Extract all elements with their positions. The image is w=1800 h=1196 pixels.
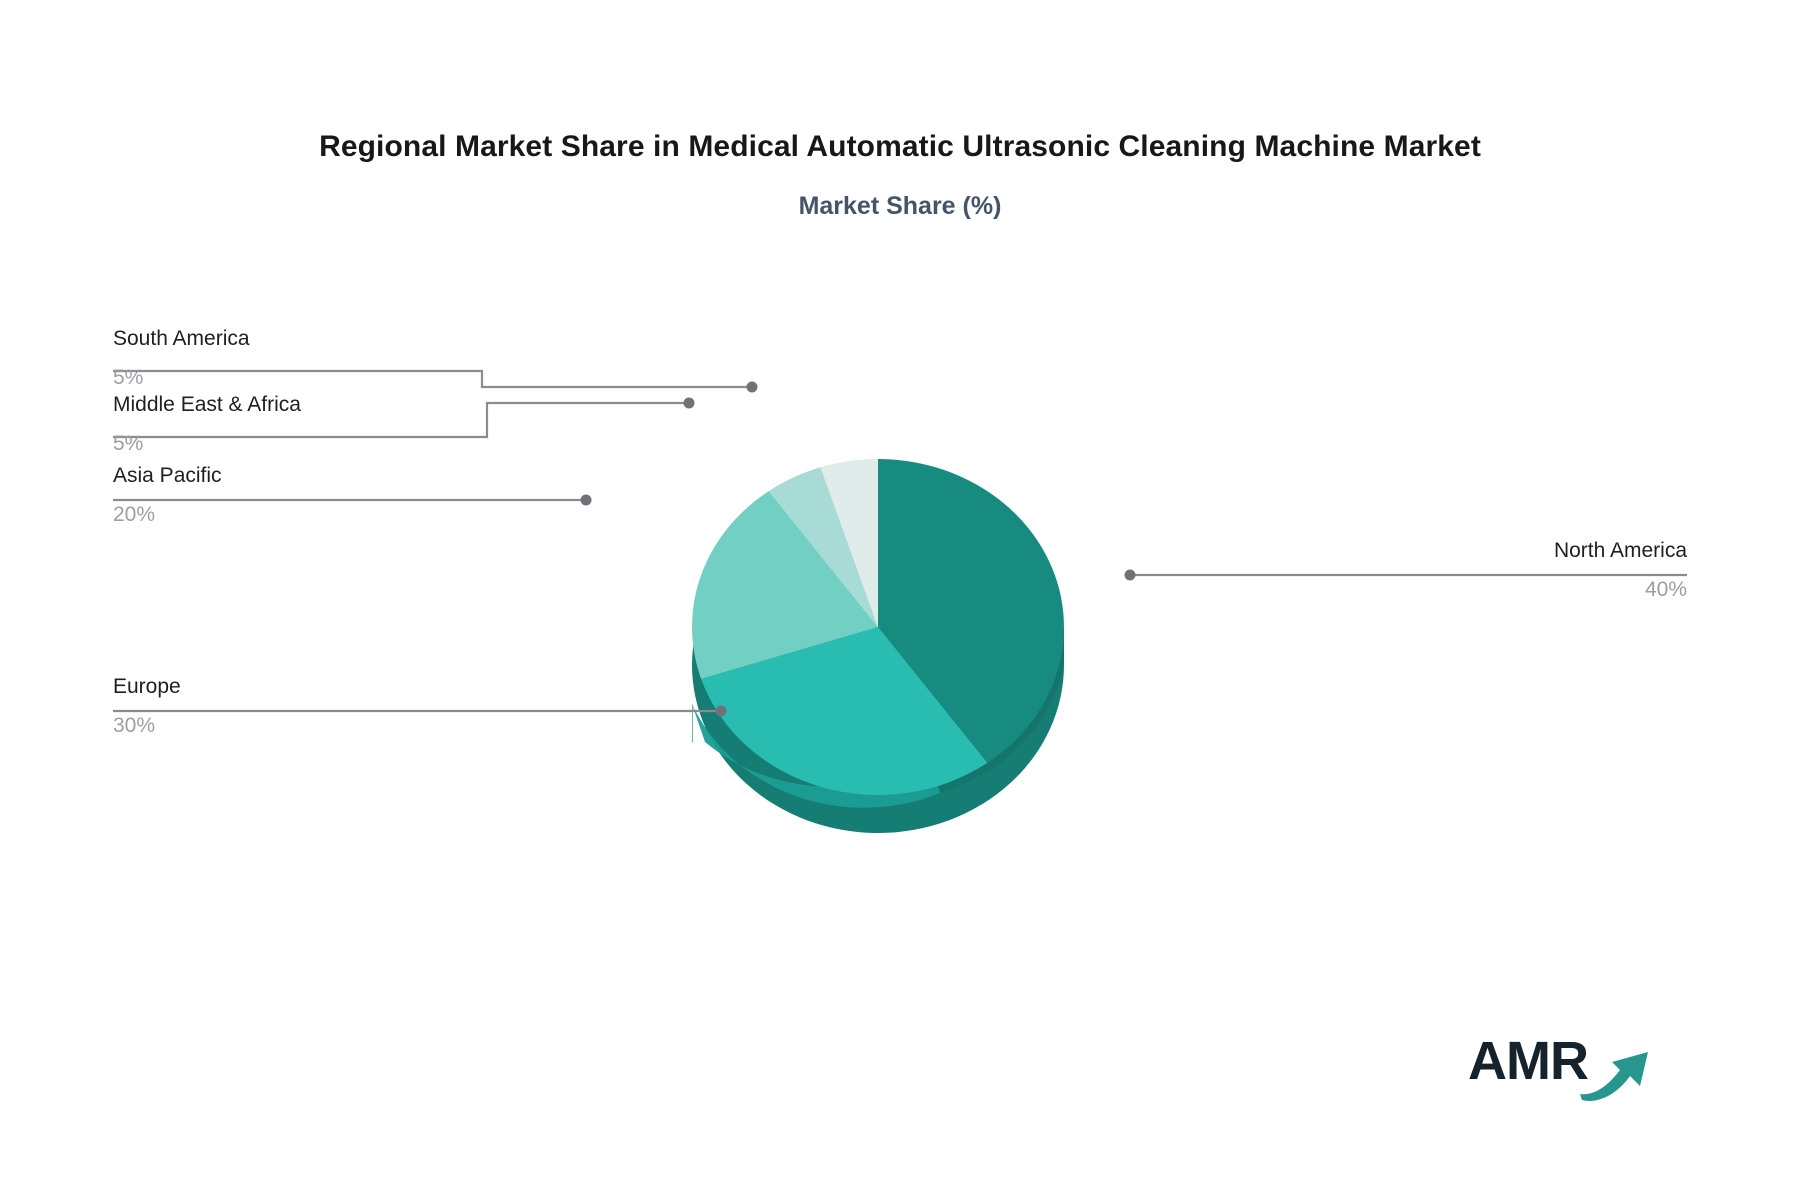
pie-chart xyxy=(0,0,1800,1196)
callout-label-middle-east-africa: Middle East & Africa xyxy=(113,394,301,424)
callout-south-america: South America 5% xyxy=(113,328,250,388)
callout-value-north-america: 40% xyxy=(1554,570,1687,600)
callout-value-europe: 30% xyxy=(113,706,181,736)
callout-middle-east-africa: Middle East & Africa 5% xyxy=(113,394,301,454)
growth-arrow-icon xyxy=(1578,1034,1658,1104)
pie-slices xyxy=(692,459,1064,795)
amr-logo-text: AMR xyxy=(1468,1030,1588,1092)
callout-label-asia-pacific: Asia Pacific xyxy=(113,465,222,495)
callout-value-asia-pacific: 20% xyxy=(113,495,222,525)
leader-dot-middle-east-africa xyxy=(684,398,695,409)
chart-page: Regional Market Share in Medical Automat… xyxy=(0,0,1800,1196)
callout-europe: Europe 30% xyxy=(113,676,181,736)
callout-label-north-america: North America xyxy=(1554,540,1687,570)
callout-label-europe: Europe xyxy=(113,676,181,706)
callout-label-south-america: South America xyxy=(113,328,250,358)
leader-dot-north-america xyxy=(1125,570,1136,581)
callout-north-america: North America 40% xyxy=(1554,540,1687,600)
amr-logo: AMR xyxy=(1468,1028,1648,1098)
callout-value-south-america: 5% xyxy=(113,358,250,388)
callout-value-middle-east-africa: 5% xyxy=(113,424,301,454)
leader-dot-europe xyxy=(716,706,727,717)
leader-dot-asia-pacific xyxy=(581,495,592,506)
leader-dot-south-america xyxy=(747,382,758,393)
callout-asia-pacific: Asia Pacific 20% xyxy=(113,465,222,525)
